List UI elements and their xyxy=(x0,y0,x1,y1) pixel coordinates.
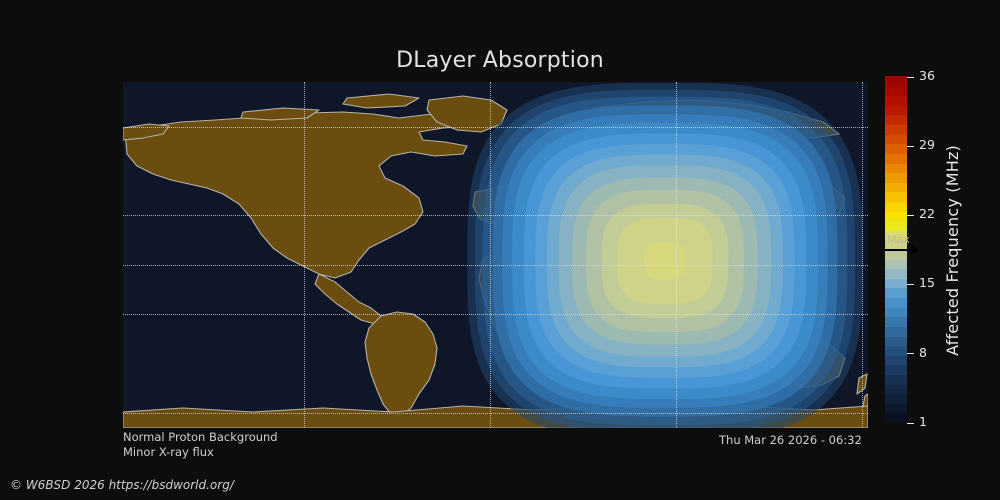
colorbar-segment xyxy=(885,288,907,298)
colorbar-segment xyxy=(885,115,907,125)
continents-layer xyxy=(123,82,868,428)
status-proton-background: Normal Proton Background xyxy=(123,430,278,444)
colorbar-segment xyxy=(885,124,907,134)
colorbar-axis-label: Affected Frequency (MHz) xyxy=(939,77,965,423)
colorbar-segment xyxy=(885,153,907,163)
colorbar-tick-mark xyxy=(907,215,914,216)
colorbar-segment xyxy=(885,201,907,211)
colorbar-segment xyxy=(885,182,907,192)
colorbar-segment xyxy=(885,317,907,327)
colorbar-segment xyxy=(885,346,907,356)
colorbar-segment xyxy=(885,365,907,375)
colorbar-segment xyxy=(885,221,907,231)
colorbar-segment xyxy=(885,278,907,288)
colorbar-segment xyxy=(885,384,907,394)
colorbar-segment xyxy=(885,374,907,384)
colorbar-tick-label: 8 xyxy=(919,347,927,360)
colorbar-segment xyxy=(885,307,907,317)
colorbar-segment xyxy=(885,336,907,346)
colorbar-segment xyxy=(885,403,907,413)
colorbar-tick-mark xyxy=(907,77,914,78)
colorbar-segment xyxy=(885,394,907,404)
colorbar-tick-mark xyxy=(907,284,914,285)
colorbar-segment xyxy=(885,144,907,154)
colorbar-segment xyxy=(885,269,907,279)
colorbar-segment xyxy=(885,192,907,202)
map-figure: DLayer Absorption xyxy=(0,0,1000,500)
colorbar-segment xyxy=(885,134,907,144)
colorbar-segment xyxy=(885,326,907,336)
colorbar-segment xyxy=(885,76,907,86)
colorbar-tick-label: 15 xyxy=(919,277,935,290)
colorbar-tick-label: 29 xyxy=(919,139,935,152)
colorbar-tick-label: 22 xyxy=(919,208,935,221)
colorbar-segment xyxy=(885,163,907,173)
colorbar-segment xyxy=(885,259,907,269)
timestamp: Thu Mar 26 2026 - 06:32 xyxy=(719,433,862,447)
page-title: DLayer Absorption xyxy=(0,48,1000,73)
colorbar-segment xyxy=(885,211,907,221)
colorbar-segment xyxy=(885,105,907,115)
colorbar-tick-mark xyxy=(907,423,914,424)
world-map[interactable] xyxy=(123,82,868,428)
colorbar-segment xyxy=(885,96,907,106)
colorbar-tick-mark xyxy=(907,353,914,354)
colorbar-segment xyxy=(885,413,907,423)
max-marker-arrow-shaft xyxy=(885,249,913,251)
colorbar-segment xyxy=(885,173,907,183)
colorbar-segment xyxy=(885,86,907,96)
colorbar-axis-label-text: Affected Frequency (MHz) xyxy=(943,145,962,356)
colorbar[interactable]: 1815222936 Max xyxy=(885,77,907,423)
colorbar-segment xyxy=(885,355,907,365)
copyright-credit: © W6BSD 2026 https://bsdworld.org/ xyxy=(10,478,234,492)
colorbar-segment xyxy=(885,297,907,307)
colorbar-tick-label: 36 xyxy=(919,70,935,83)
max-marker-label: Max xyxy=(887,234,910,245)
colorbar-tick-mark xyxy=(907,146,914,147)
max-marker-arrow-head xyxy=(911,245,919,255)
colorbar-tick-label: 1 xyxy=(919,416,927,429)
status-xray-flux: Minor X-ray flux xyxy=(123,445,214,459)
